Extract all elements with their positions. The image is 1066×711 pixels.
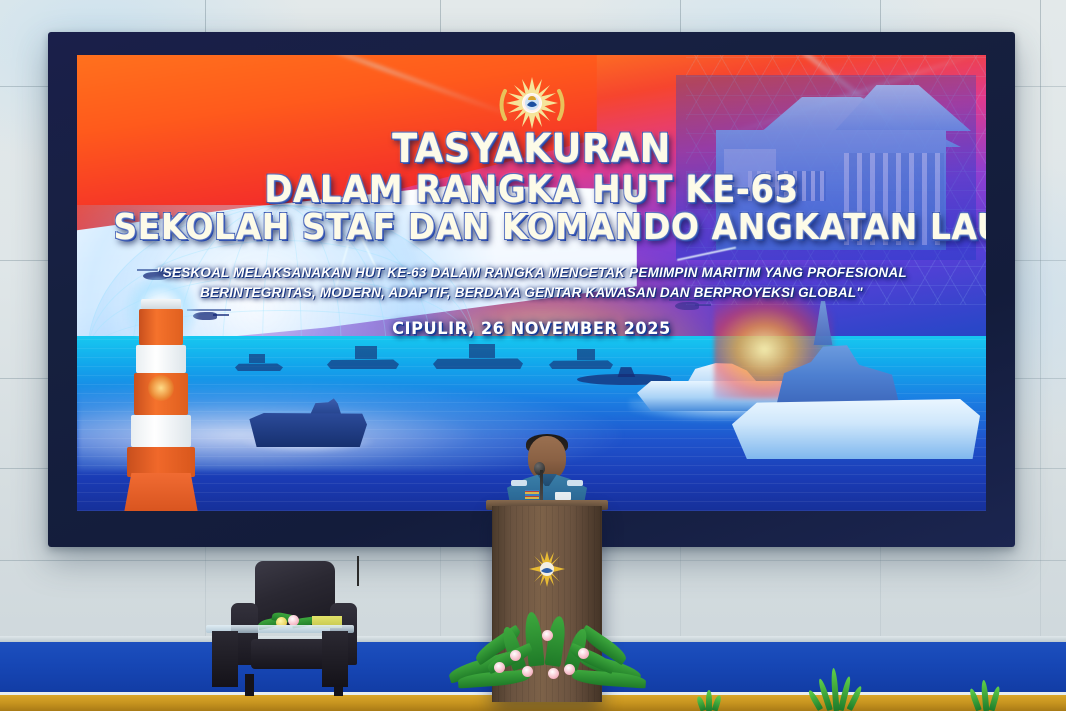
banner-headline: TASYAKURAN DALAM RANGKA HUT KE-63 SEKOLA… xyxy=(77,129,986,246)
glass-coffee-table xyxy=(206,625,354,687)
potted-plant xyxy=(690,690,734,711)
rose-bloom xyxy=(564,664,575,675)
speaker-name-tag xyxy=(555,492,571,500)
rose-bloom xyxy=(542,630,553,641)
headline-line-2: DALAM RANGKA HUT KE-63 xyxy=(113,171,949,208)
speaker-ribbon-bars xyxy=(525,490,539,499)
floral-arrangement xyxy=(448,612,658,704)
banner-subtitle: "SESKOAL MELAKSANAKAN HUT KE-63 DALAM RA… xyxy=(77,263,986,302)
headline-line-1: TASYAKURAN xyxy=(113,129,949,169)
table-leg xyxy=(322,631,348,687)
potted-plant xyxy=(806,668,876,711)
fern-frond xyxy=(523,611,545,666)
scene-root: TASYAKURAN DALAM RANGKA HUT KE-63 SEKOLA… xyxy=(0,0,1066,711)
potted-plant xyxy=(960,680,1020,711)
speaker-shoulder-board xyxy=(567,480,583,486)
podium-sunburst-emblem-icon xyxy=(527,550,567,588)
rose-bloom xyxy=(548,668,559,679)
chair-pole xyxy=(357,556,359,586)
rose-bloom xyxy=(522,666,533,677)
headline-line-3: SEKOLAH STAF DAN KOMANDO ANGKATAN LAUT xyxy=(113,210,949,246)
wall-seam xyxy=(1040,0,1041,711)
subtitle-line-2: BERINTEGRITAS, MODERN, ADAPTIF, BERDAYA … xyxy=(77,283,986,303)
rose-bloom xyxy=(578,648,589,659)
fern-frond xyxy=(545,615,568,667)
rose-bloom xyxy=(494,662,505,673)
subtitle-line-1: "SESKOAL MELAKSANAKAN HUT KE-63 DALAM RA… xyxy=(77,263,986,283)
rose-bloom xyxy=(510,650,521,661)
banner-datestamp: CIPULIR, 26 NOVEMBER 2025 xyxy=(100,319,964,339)
speaker-head xyxy=(528,436,566,480)
speaker-shoulder-board xyxy=(511,480,527,486)
table-leg xyxy=(212,631,238,687)
